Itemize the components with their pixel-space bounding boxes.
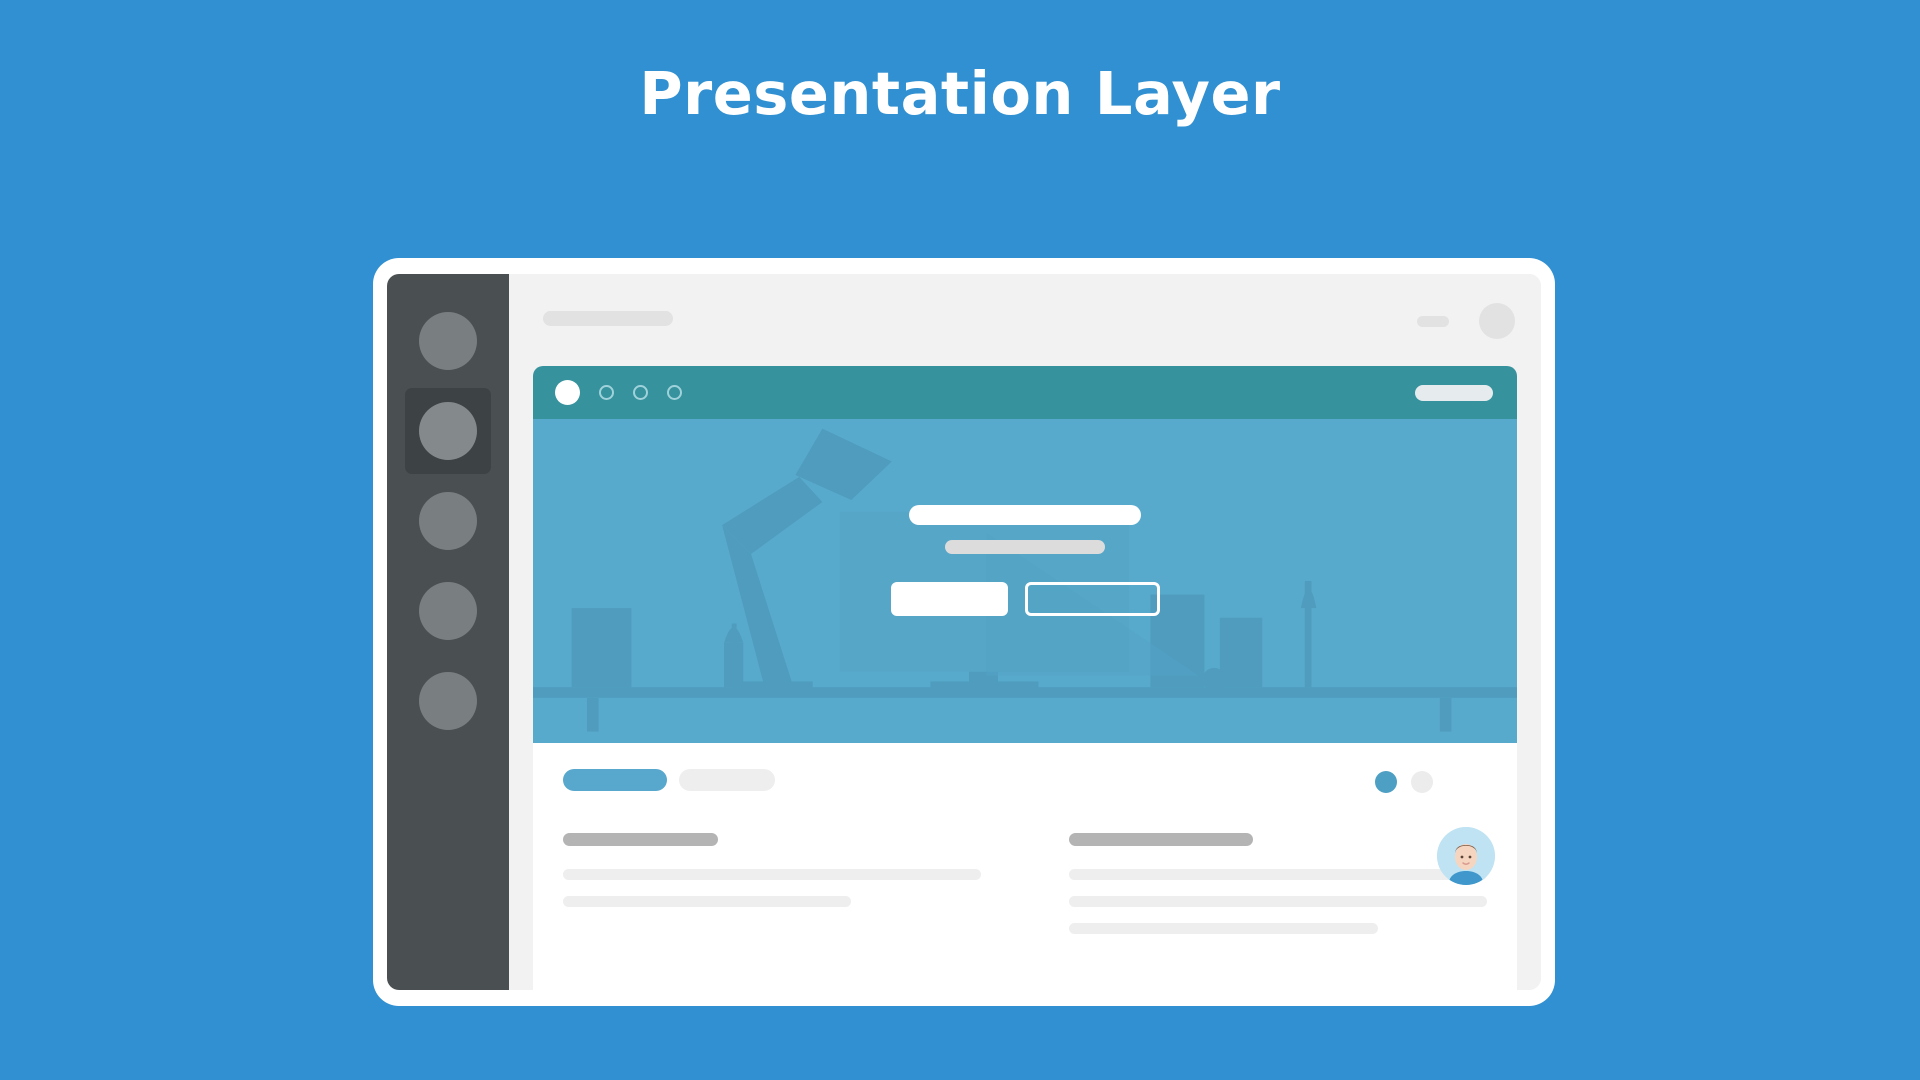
content-column-right [1069, 833, 1487, 950]
hero-button-group [891, 582, 1160, 616]
sidebar-item-2[interactable] [387, 386, 509, 476]
column-heading-placeholder [1069, 833, 1253, 846]
tablet-screen [387, 274, 1541, 990]
minimize-icon[interactable] [1417, 316, 1449, 327]
browser-tab-2-icon[interactable] [599, 385, 614, 400]
sidebar-item-1[interactable] [387, 296, 509, 386]
sidebar-icon-2-icon [419, 402, 477, 460]
user-avatar-icon [1437, 827, 1495, 885]
hero-primary-button[interactable] [891, 582, 1008, 616]
hero-subheadline-placeholder [945, 540, 1105, 554]
app-avatar-placeholder[interactable] [1479, 303, 1515, 339]
app-screen [509, 274, 1541, 990]
sidebar-item-3[interactable] [387, 476, 509, 566]
content-tab-inactive[interactable] [679, 769, 775, 791]
hero-copy-group [533, 505, 1517, 616]
content-panel [533, 743, 1517, 990]
app-header-bar [509, 274, 1541, 366]
browser-titlebar [533, 366, 1517, 419]
content-columns [563, 833, 1487, 950]
page-dot-1[interactable] [1375, 771, 1397, 793]
column-text-line [563, 869, 981, 880]
column-text-line [563, 896, 851, 907]
app-sidebar [387, 274, 509, 990]
browser-tab-4-icon[interactable] [667, 385, 682, 400]
pagination-dots [1375, 771, 1433, 793]
hero-banner [533, 419, 1517, 743]
column-text-line [1069, 896, 1487, 907]
sidebar-icon-1-icon [419, 312, 477, 370]
content-tab-active[interactable] [563, 769, 667, 791]
page-title: Presentation Layer [0, 62, 1920, 127]
page-dot-2[interactable] [1411, 771, 1433, 793]
sidebar-item-5[interactable] [387, 656, 509, 746]
hero-headline-placeholder [909, 505, 1141, 525]
column-text-line [1069, 923, 1378, 934]
column-text-line [1069, 869, 1487, 880]
tablet-device-frame [373, 258, 1555, 1006]
browser-tab-3-icon[interactable] [633, 385, 648, 400]
browser-tab-active-icon[interactable] [555, 380, 580, 405]
user-avatar[interactable] [1437, 827, 1495, 885]
sidebar-icon-4-icon [419, 582, 477, 640]
hero-secondary-button[interactable] [1025, 582, 1160, 616]
browser-search-input[interactable] [1415, 385, 1493, 401]
content-column-left [563, 833, 981, 950]
sidebar-icon-3-icon [419, 492, 477, 550]
browser-window [533, 366, 1517, 990]
content-tabs [563, 769, 1487, 791]
column-heading-placeholder [563, 833, 718, 846]
app-title-placeholder [543, 311, 673, 326]
page-root: Presentation Layer [0, 0, 1920, 1080]
sidebar-icon-5-icon [419, 672, 477, 730]
sidebar-item-4[interactable] [387, 566, 509, 656]
